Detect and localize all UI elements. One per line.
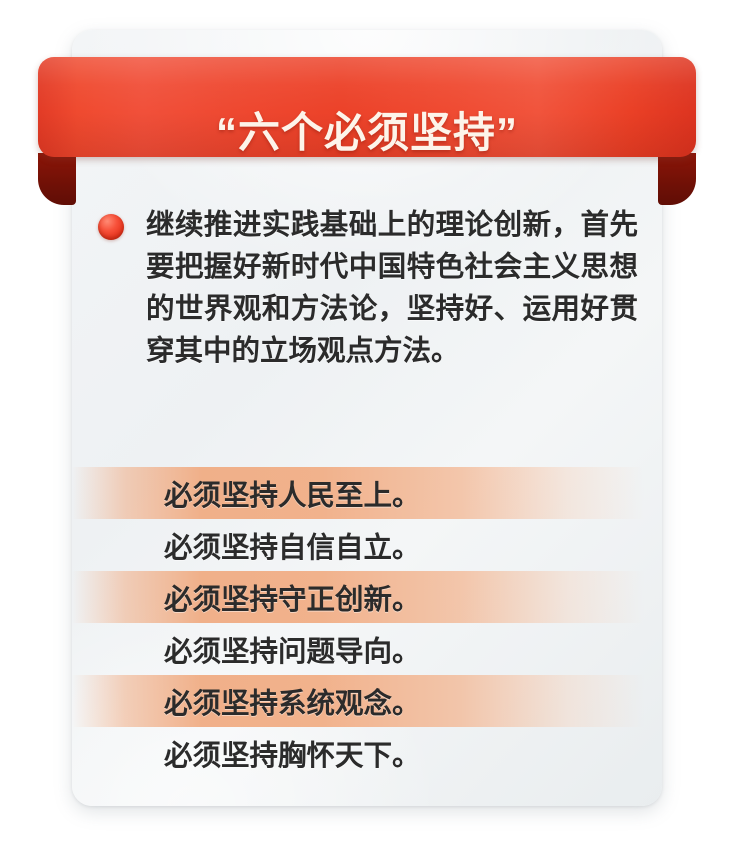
intro-paragraph-text: 继续推进实践基础上的理论创新，首先要把握好新时代中国特色社会主义思想的世界观和方… <box>146 205 638 373</box>
poster-root: 继续推进实践基础上的理论创新，首先要把握好新时代中国特色社会主义思想的世界观和方… <box>0 0 733 856</box>
ribbon-banner: “六个必须坚持” <box>38 57 696 202</box>
list-item: 必须坚持系统观念。 <box>72 675 662 727</box>
list-item: 必须坚持问题导向。 <box>72 623 662 675</box>
list-item: 必须坚持人民至上。 <box>72 467 662 519</box>
principle-text: 必须坚持系统观念。 <box>164 681 421 722</box>
banner-title: “六个必须坚持” <box>38 57 696 202</box>
list-item: 必须坚持胸怀天下。 <box>72 727 662 779</box>
principle-text: 必须坚持人民至上。 <box>164 473 421 514</box>
principle-text: 必须坚持守正创新。 <box>164 577 421 618</box>
principle-text: 必须坚持自信自立。 <box>164 525 421 566</box>
list-item: 必须坚持守正创新。 <box>72 571 662 623</box>
principle-text: 必须坚持问题导向。 <box>164 629 421 670</box>
red-dot-icon <box>98 214 124 240</box>
principle-text: 必须坚持胸怀天下。 <box>164 733 421 774</box>
list-item: 必须坚持自信自立。 <box>72 519 662 571</box>
principles-list: 必须坚持人民至上。 必须坚持自信自立。 必须坚持守正创新。 必须坚持问题导向。 … <box>72 467 662 779</box>
intro-paragraph-block: 继续推进实践基础上的理论创新，首先要把握好新时代中国特色社会主义思想的世界观和方… <box>98 205 638 373</box>
